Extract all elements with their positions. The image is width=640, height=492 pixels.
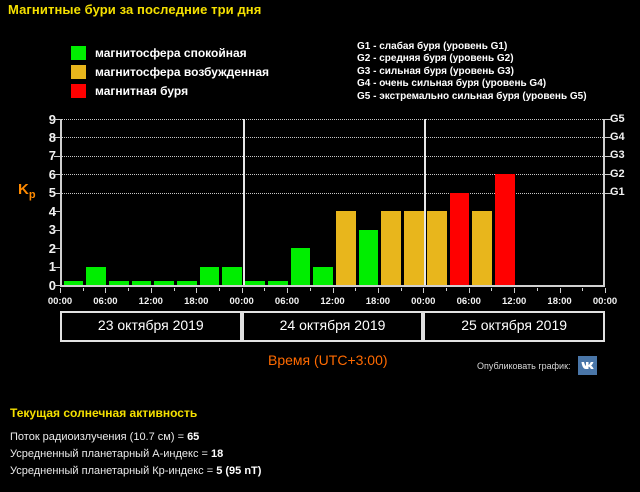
g-axis-tick-label: G3 <box>610 150 625 161</box>
bar[interactable] <box>427 211 447 285</box>
legend-item-label: магнитная буря <box>95 84 188 98</box>
g-axis: G5G4G3G2G1 <box>610 112 640 294</box>
g-axis-tick-label: G4 <box>610 132 625 143</box>
red-square-icon <box>71 84 86 98</box>
x-axis-tickmark <box>333 288 334 293</box>
y-axis-tick-label: 0 <box>32 279 56 292</box>
x-axis-tickmark <box>514 288 515 293</box>
solar-activity-block: Текущая солнечная активность Поток радио… <box>10 406 440 480</box>
x-axis-tickmark <box>469 288 470 293</box>
vk-icon[interactable] <box>578 356 597 375</box>
g-scale-legend: G1 - слабая буря (уровень G1) G2 - средн… <box>357 41 587 103</box>
bar[interactable] <box>222 267 242 285</box>
bar[interactable] <box>404 211 424 285</box>
g-axis-tick-label: G5 <box>610 114 625 125</box>
x-axis-tickmark <box>105 288 106 293</box>
amber-square-icon <box>71 65 86 79</box>
bar[interactable] <box>450 193 470 285</box>
x-axis-tickmark <box>60 288 61 293</box>
day-label: 25 октября 2019 <box>461 317 567 333</box>
day-label: 23 октября 2019 <box>98 317 204 333</box>
g-scale-line: G2 - средняя буря (уровень G2) <box>357 53 587 65</box>
x-axis-minor-tickmark <box>446 288 447 291</box>
g-axis-tickmark <box>605 119 611 120</box>
y-axis-tick-label: 8 <box>32 131 56 144</box>
green-square-icon <box>71 46 86 60</box>
g-scale-line: G1 - слабая буря (уровень G1) <box>357 41 587 53</box>
magnetic-storm-chart-page: Магнитные бури за последние три дня магн… <box>0 0 640 492</box>
solar-line-value: 65 <box>187 431 199 443</box>
x-axis-tick-label: 12:00 <box>320 296 344 307</box>
x-axis-minor-tickmark <box>264 288 265 291</box>
day-label: 24 октября 2019 <box>280 317 386 333</box>
y-axis-tick-label: 1 <box>32 260 56 273</box>
x-axis-minor-tickmark <box>174 288 175 291</box>
bar[interactable] <box>336 211 356 285</box>
legend-item: магнитосфера спокойная <box>71 44 269 61</box>
x-axis-minor-tickmark <box>83 288 84 291</box>
g-axis-tickmark <box>605 137 611 138</box>
x-axis-tick-label: 06:00 <box>275 296 299 307</box>
x-axis-tickmark <box>287 288 288 293</box>
g-axis-tickmark <box>605 193 611 194</box>
x-axis-tick-label: 06:00 <box>457 296 481 307</box>
x-axis-minor-tickmark <box>401 288 402 291</box>
x-axis-tick-label: 00:00 <box>230 296 254 307</box>
solar-line-text: Усредненный планетарный А-индекс = <box>10 448 211 460</box>
time-caption: Время (UTC+3:00) <box>268 352 388 368</box>
x-axis-tick-label: 12:00 <box>139 296 163 307</box>
bar-series[interactable] <box>62 119 603 285</box>
x-axis-minor-tickmark <box>128 288 129 291</box>
bar[interactable] <box>381 211 401 285</box>
y-axis-tick-label: 6 <box>32 168 56 181</box>
x-axis-tick-label: 18:00 <box>184 296 208 307</box>
x-axis-tickmark <box>196 288 197 293</box>
solar-line-value: 18 <box>211 448 223 460</box>
x-axis-tickmark <box>151 288 152 293</box>
g-scale-line: G3 - сильная буря (уровень G3) <box>357 66 587 78</box>
solar-activity-line: Поток радиоизлучения (10.7 см) = 65 <box>10 429 440 446</box>
bar[interactable] <box>86 267 106 285</box>
x-axis-tick-label: 00:00 <box>593 296 617 307</box>
g-axis-tick-label: G2 <box>610 169 625 180</box>
solar-activity-line: Усредненный планетарный А-индекс = 18 <box>10 446 440 463</box>
y-axis-tick-label: 2 <box>32 242 56 255</box>
solar-activity-title: Текущая солнечная активность <box>10 406 440 420</box>
x-axis-tick-label: 12:00 <box>502 296 526 307</box>
x-axis-minor-tickmark <box>537 288 538 291</box>
bar[interactable] <box>472 211 492 285</box>
solar-line-text: Усредненный планетарный Кр-индекс = <box>10 465 216 477</box>
color-legend: магнитосфера спокойная магнитосфера возб… <box>71 44 269 101</box>
bar[interactable] <box>495 174 515 285</box>
x-axis-tickmark <box>560 288 561 293</box>
bar[interactable] <box>291 248 311 285</box>
legend-item-label: магнитосфера возбужденная <box>95 65 269 79</box>
share-block: Опубликовать график: <box>477 356 597 375</box>
legend-item: магнитная буря <box>71 82 269 99</box>
g-scale-line: G4 - очень сильная буря (уровень G4) <box>357 78 587 90</box>
g-scale-line: G5 - экстремально сильная буря (уровень … <box>357 91 587 103</box>
x-axis-minor-tickmark <box>310 288 311 291</box>
x-axis-tick-label: 18:00 <box>547 296 571 307</box>
y-axis: 9876543210 <box>32 112 56 294</box>
x-axis-tick-label: 00:00 <box>411 296 435 307</box>
x-axis-tickmark <box>605 288 606 293</box>
y-axis-tick-label: 7 <box>32 149 56 162</box>
g-axis-tickmark <box>605 156 611 157</box>
x-axis-minor-tickmark <box>582 288 583 291</box>
y-axis-tick-label: 3 <box>32 223 56 236</box>
x-axis-tickmark <box>423 288 424 293</box>
y-axis-label-main: K <box>18 181 29 198</box>
solar-line-text: Поток радиоизлучения (10.7 см) = <box>10 431 187 443</box>
x-axis-minor-tickmark <box>491 288 492 291</box>
y-axis-tick-label: 5 <box>32 186 56 199</box>
solar-activity-line: Усредненный планетарный Кр-индекс = 5 (9… <box>10 463 440 480</box>
x-axis-minor-tickmark <box>219 288 220 291</box>
page-title: Магнитные бури за последние три дня <box>8 2 261 17</box>
x-axis-minor-tickmark <box>355 288 356 291</box>
y-axis-tick-label: 4 <box>32 205 56 218</box>
solar-line-value: 5 (95 nT) <box>216 465 261 477</box>
bar[interactable] <box>359 230 379 285</box>
g-axis-tickmark <box>605 174 611 175</box>
bar[interactable] <box>200 267 220 285</box>
y-axis-tick-label: 9 <box>32 113 56 126</box>
chart-plot-area[interactable] <box>60 119 605 287</box>
bar[interactable] <box>313 267 333 285</box>
x-axis-tick-label: 00:00 <box>48 296 72 307</box>
share-label: Опубликовать график: <box>477 361 571 371</box>
x-axis-tick-label: 06:00 <box>93 296 117 307</box>
x-axis-tick-label: 18:00 <box>366 296 390 307</box>
x-axis-baseline <box>60 285 605 287</box>
x-axis-tick-labels: 00:0006:0012:0018:0000:0006:0012:0018:00… <box>0 296 640 310</box>
legend-item-label: магнитосфера спокойная <box>95 46 247 60</box>
x-axis-tickmark <box>242 288 243 293</box>
g-axis-tick-label: G1 <box>610 187 625 198</box>
x-axis-tickmark <box>378 288 379 293</box>
legend-item: магнитосфера возбужденная <box>71 63 269 80</box>
